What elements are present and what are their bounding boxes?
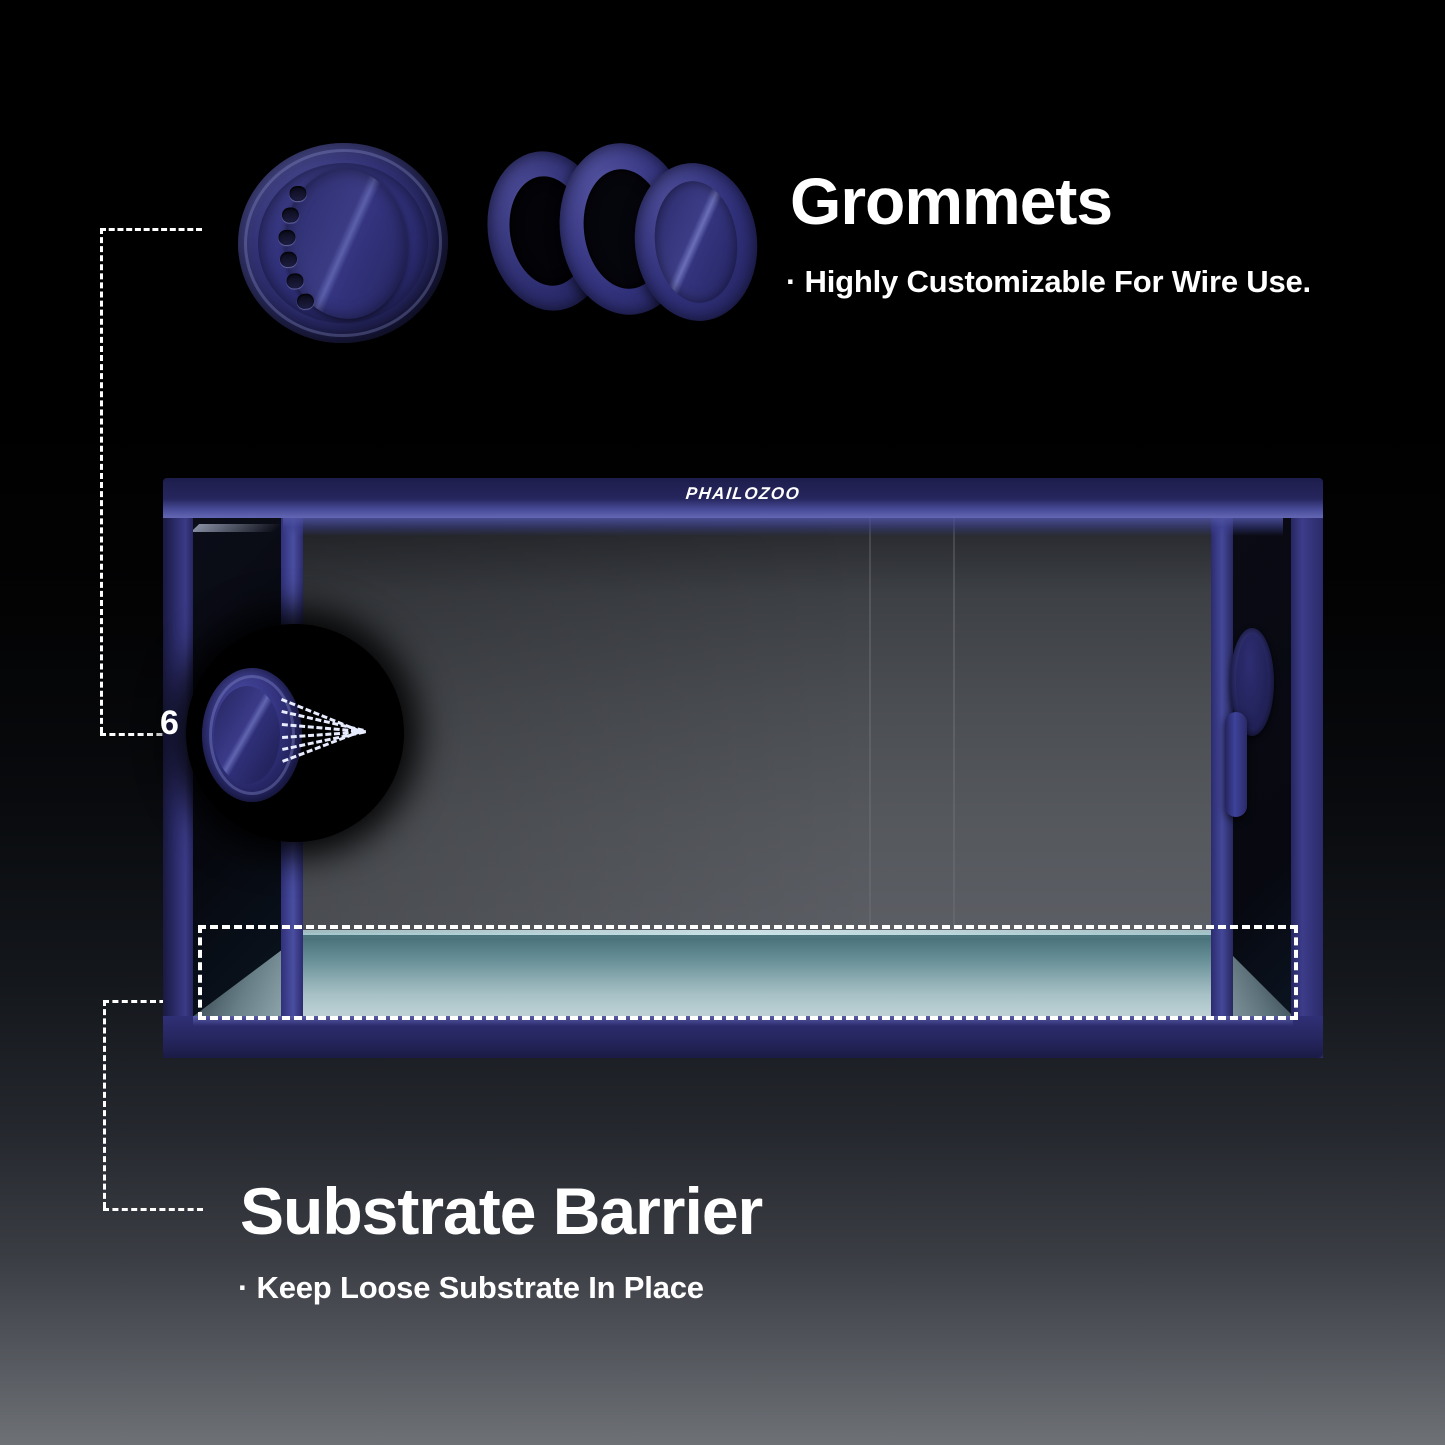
feature-bullet-substrate: · Keep Loose Substrate In Place xyxy=(238,1270,704,1306)
terrarium-frame-post-left xyxy=(163,492,193,1058)
grommet-parts-group xyxy=(230,135,740,360)
grommet-zoom-callout xyxy=(186,624,404,842)
feature-title-grommets: Grommets xyxy=(790,168,1112,234)
terrarium-top-rail: PHAILOZOO xyxy=(163,478,1323,518)
feature-title-substrate: Substrate Barrier xyxy=(240,1178,762,1244)
brand-logo: PHAILOZOO xyxy=(162,484,1324,504)
feature-bullet-grommets: · Highly Customizable For Wire Use. xyxy=(786,264,1311,300)
callout-grommet-plug-icon xyxy=(214,686,280,784)
callout-pointer-lines xyxy=(282,690,398,780)
terrarium-door-seam xyxy=(869,518,871,938)
leader-segment-bottom xyxy=(103,1208,203,1211)
door-handle-icon xyxy=(1225,712,1247,817)
grommet-face-icon xyxy=(231,136,454,350)
leader-segment-vertical xyxy=(103,1000,106,1208)
leader-segment-vertical xyxy=(100,228,103,733)
terrarium-door-seam xyxy=(953,518,955,938)
grommet-count-label: 6 xyxy=(160,704,179,743)
grommet-wire-slots-icon xyxy=(272,185,327,312)
substrate-barrier-outline xyxy=(198,925,1298,1020)
leader-segment-top xyxy=(100,228,202,231)
product-feature-image: Grommets · Highly Customizable For Wire … xyxy=(0,0,1445,1445)
grommet-cap-icon xyxy=(649,177,743,307)
